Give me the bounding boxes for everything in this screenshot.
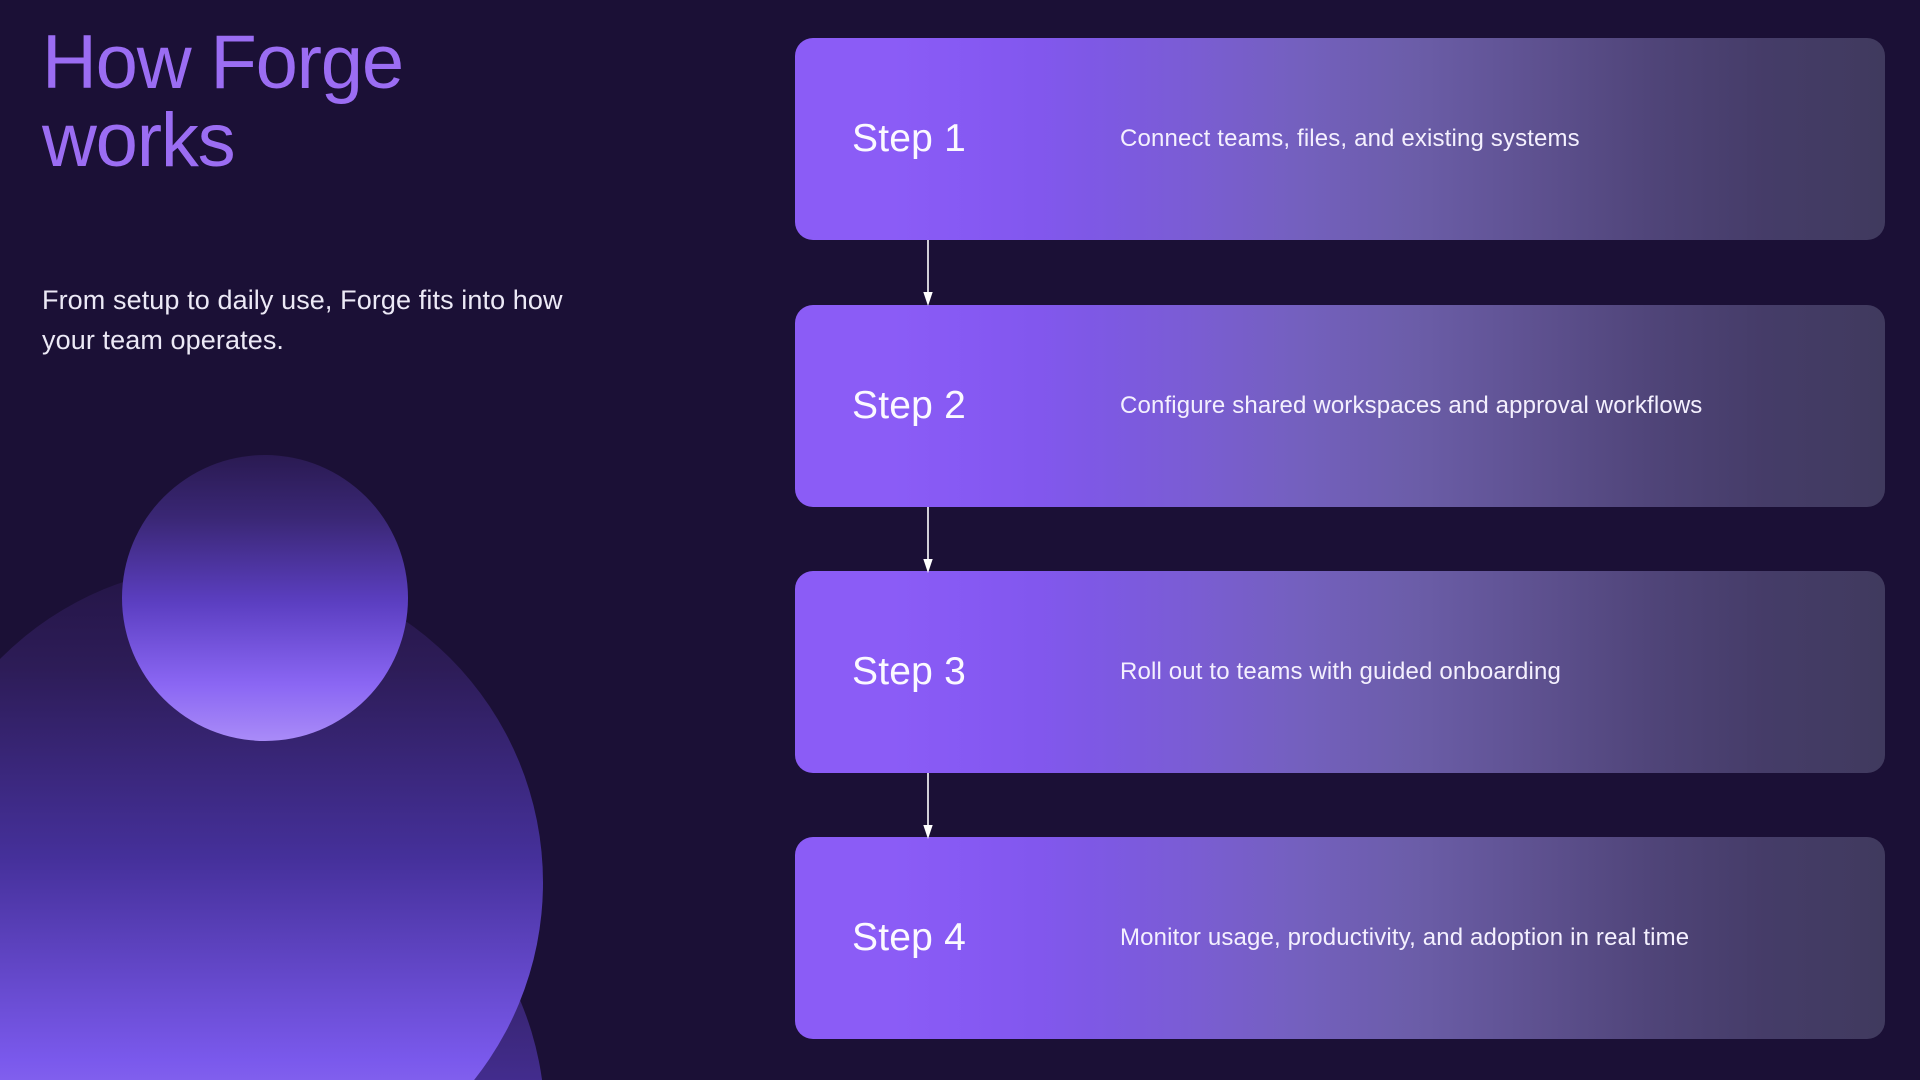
step-label-2: Step 2 [852,384,966,428]
slide-root: How Forge works From setup to daily use,… [0,0,1920,1080]
step-card-1[interactable]: Step 1 Connect teams, files, and existin… [795,38,1885,240]
step-description-3: Roll out to teams with guided onboarding [1120,658,1561,686]
step-description-1: Connect teams, files, and existing syste… [1120,125,1580,153]
step-card-4[interactable]: Step 4 Monitor usage, productivity, and … [795,837,1885,1039]
step-card-3[interactable]: Step 3 Roll out to teams with guided onb… [795,571,1885,773]
step-description-2: Configure shared workspaces and approval… [1120,392,1702,420]
page-subtitle: From setup to daily use, Forge fits into… [42,281,582,361]
step-label-1: Step 1 [852,117,966,161]
intro-column: How Forge works From setup to daily use,… [0,0,780,1080]
step-description-4: Monitor usage, productivity, and adoptio… [1120,924,1689,952]
step-label-4: Step 4 [852,916,966,960]
page-title: How Forge works [42,24,562,179]
step-card-2[interactable]: Step 2 Configure shared workspaces and a… [795,305,1885,507]
steps-column: Step 1 Connect teams, files, and existin… [795,0,1885,1080]
step-label-3: Step 3 [852,650,966,694]
